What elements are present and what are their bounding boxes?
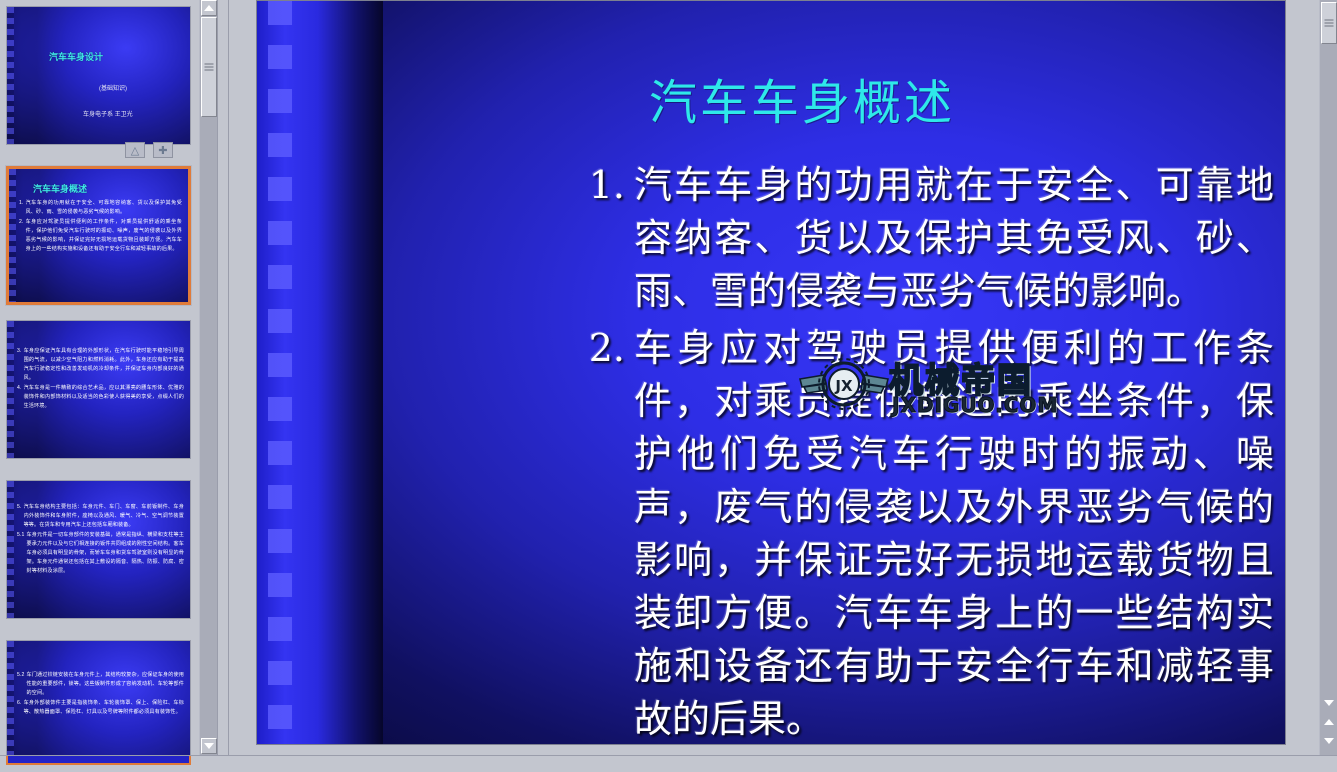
double-chevron-down-icon <box>1324 738 1334 744</box>
bullet-number: 5. <box>17 503 22 530</box>
slide-bullet-1: 1. 汽车车身的功用就在于安全、可靠地容纳客、货以及保护其免受风、砂、雨、雪的侵… <box>584 159 1274 318</box>
thumbnail-background-3: 3. 车身应保证汽车具有合理的外部形状，在汽车行驶时能平稳地引导周围的气流，以减… <box>7 321 190 458</box>
chevron-down-icon <box>204 743 214 749</box>
thumbnail-filmstrip-5 <box>7 641 14 755</box>
thumbnail-gradient-1 <box>7 7 190 144</box>
slide-bullet-2: 2. 车身应对驾驶员提供便利的工作条件，对乘员提供舒适的乘坐条件，保护他们免受汽… <box>584 322 1274 744</box>
thumbnail-filmstrip-1 <box>7 7 14 144</box>
scroll-up-button[interactable] <box>201 0 217 16</box>
powerpoint-window: 汽车车身设计 (基础知识) 车身电子系 王卫光 △ ✚ 汽车车身概述 1. 汽车… <box>0 0 1337 772</box>
bullet-text: 汽车车身是一件精致的综合艺术品，应以其漂亮的腰车形体、优雅的装饰件和内部饰材料以… <box>24 384 184 411</box>
grip-icon <box>205 64 214 71</box>
status-bar <box>0 755 1337 772</box>
animation-icon[interactable]: ✚ <box>153 142 173 158</box>
scroll-down-button[interactable] <box>201 738 217 754</box>
bullet-text: 汽车车身的功用就在于安全、可靠地容纳客、货以及保护其免受风、砂、雨、雪的侵袭与恶… <box>26 199 182 217</box>
thumbnail-body-3: 3. 车身应保证汽车具有合理的外部形状，在汽车行驶时能平稳地引导周围的气流，以减… <box>17 347 184 412</box>
selected-thumbnail-overflow-edge <box>6 755 191 765</box>
bullet-number: 4. <box>17 384 22 411</box>
bullet-number: 2. <box>584 322 634 375</box>
slide-thumbnail-3[interactable]: 3. 车身应保证汽车具有合理的外部形状，在汽车行驶时能平稳地引导周围的气流，以减… <box>6 320 191 459</box>
thumbnail-bullet: 2. 车身应对驾驶员提供便利的工作条件，对乘员提供舒适的乘坐条件，保护他们免受汽… <box>19 218 182 254</box>
chevron-up-icon <box>204 5 214 11</box>
transition-icon[interactable]: △ <box>125 142 145 158</box>
grip-icon <box>1325 20 1334 27</box>
bullet-number: 6. <box>17 699 22 717</box>
next-slide-button[interactable] <box>1321 733 1337 749</box>
slide-thumbnail-pane[interactable]: 汽车车身设计 (基础知识) 车身电子系 王卫光 △ ✚ 汽车车身概述 1. 汽车… <box>0 0 200 755</box>
bullet-text: 车门通过铰链安装在车身元件上，其结构较复杂，应保证车身的使用性能的重要部件，锁等… <box>27 671 184 698</box>
thumbnail-byline-1: 车身电子系 王卫光 <box>83 109 133 118</box>
bullet-text: 车身外部装饰件主要是指装饰条、车轮装饰罩、保上、保险杠、车标等、散热器面罩、保险… <box>24 699 184 717</box>
slide-canvas[interactable]: 汽车车身概述 1. 汽车车身的功用就在于安全、可靠地容纳客、货以及保护其免受风、… <box>257 1 1285 744</box>
previous-slide-button[interactable] <box>1321 714 1337 730</box>
slide-filmstrip-decoration <box>268 1 292 744</box>
slide-frame[interactable]: 汽车车身概述 1. 汽车车身的功用就在于安全、可靠地容纳客、货以及保护其免受风、… <box>256 0 1286 745</box>
slide-body-placeholder[interactable]: 1. 汽车车身的功用就在于安全、可靠地容纳客、货以及保护其免受风、砂、雨、雪的侵… <box>584 159 1274 744</box>
slide-thumbnail-2[interactable]: 汽车车身概述 1. 汽车车身的功用就在于安全、可靠地容纳客、货以及保护其免受风、… <box>6 166 191 305</box>
bullet-number: 1. <box>19 199 24 217</box>
bullet-text: 车身应对驾驶员提供便利的工作条件，对乘员提供舒适的乘坐条件，保护他们免受汽车行驶… <box>26 218 182 254</box>
scroll-thumb[interactable] <box>1321 2 1337 44</box>
thumbnail-subtitle-1: (基础知识) <box>99 83 127 92</box>
thumbnail-background-2: 汽车车身概述 1. 汽车车身的功用就在于安全、可靠地容纳客、货以及保护其免受风、… <box>9 169 188 302</box>
thumbnail-body-4: 5. 汽车车身结构主要包括：车身元件、车门、车窗、车前钣制件、车身内外装饰件和车… <box>17 503 184 577</box>
scroll-thumb[interactable] <box>201 17 217 117</box>
thumbnail-body-5: 5.2 车门通过铰链安装在车身元件上，其结构较复杂，应保证车身的使用性能的重要部… <box>17 671 184 718</box>
pane-splitter[interactable] <box>217 0 229 755</box>
thumbnail-bullet: 4. 汽车车身是一件精致的综合艺术品，应以其漂亮的腰车形体、优雅的装饰件和内部饰… <box>17 384 184 411</box>
slide-thumbnail-1[interactable]: 汽车车身设计 (基础知识) 车身电子系 王卫光 <box>6 6 191 145</box>
thumbnail-filmstrip-3 <box>7 321 14 458</box>
thumbnail-bullet: 6. 车身外部装饰件主要是指装饰条、车轮装饰罩、保上、保险杠、车标等、散热器面罩… <box>17 699 184 717</box>
bullet-text: 汽车车身结构主要包括：车身元件、车门、车窗、车前钣制件、车身内外装饰件和车身附件… <box>24 503 184 530</box>
scroll-down-button[interactable] <box>1321 695 1337 711</box>
bullet-text: 车身应对驾驶员提供便利的工作条件，对乘员提供舒适的乘坐条件，保护他们免受汽车行驶… <box>634 322 1274 744</box>
slide-title[interactable]: 汽车车身概述 <box>649 63 955 133</box>
bullet-text: 汽车车身的功用就在于安全、可靠地容纳客、货以及保护其免受风、砂、雨、雪的侵袭与恶… <box>634 159 1274 318</box>
thumbnail-filmstrip-2 <box>9 169 16 302</box>
thumbnail-bullet: 5.1 车身元件是一切车身部件的安装基础，通常是指纵、横梁和支柱等主要承力元件以… <box>17 531 184 576</box>
thumbnail-background-1: 汽车车身设计 (基础知识) 车身电子系 王卫光 <box>7 7 190 144</box>
thumbnail-title-2: 汽车车身概述 <box>33 182 87 195</box>
thumbnail-title-1: 汽车车身设计 <box>49 50 103 63</box>
thumbnail-body-2: 1. 汽车车身的功用就在于安全、可靠地容纳客、货以及保护其免受风、砂、雨、雪的侵… <box>19 199 182 255</box>
bullet-number: 5.1 <box>17 531 25 576</box>
bullet-text: 车身元件是一切车身部件的安装基础，通常是指纵、横梁和支柱等主要承力元件以及与它们… <box>27 531 184 576</box>
bullet-number: 1. <box>584 159 634 212</box>
bullet-number: 3. <box>17 347 22 383</box>
bullet-number: 5.2 <box>17 671 25 698</box>
slide-editing-pane[interactable]: 汽车车身概述 1. 汽车车身的功用就在于安全、可靠地容纳客、货以及保护其免受风、… <box>229 0 1319 755</box>
bullet-text: 车身应保证汽车具有合理的外部形状，在汽车行驶时能平稳地引导周围的气流，以减少空气… <box>24 347 184 383</box>
double-chevron-up-icon <box>1324 719 1334 725</box>
thumbnail-background-5: 5.2 车门通过铰链安装在车身元件上，其结构较复杂，应保证车身的使用性能的重要部… <box>7 641 190 755</box>
thumbnail-bullet: 1. 汽车车身的功用就在于安全、可靠地容纳客、货以及保护其免受风、砂、雨、雪的侵… <box>19 199 182 217</box>
slide-thumbnail-4[interactable]: 5. 汽车车身结构主要包括：车身元件、车门、车窗、车前钣制件、车身内外装饰件和车… <box>6 480 191 619</box>
slide-pane-scrollbar[interactable] <box>1319 0 1337 755</box>
slide-thumbnail-5[interactable]: 5.2 车门通过铰链安装在车身元件上，其结构较复杂，应保证车身的使用性能的重要部… <box>6 640 191 755</box>
thumbnail-filmstrip-4 <box>7 481 14 618</box>
thumbnail-bullet: 5.2 车门通过铰链安装在车身元件上，其结构较复杂，应保证车身的使用性能的重要部… <box>17 671 184 698</box>
bullet-number: 2. <box>19 218 24 254</box>
chevron-down-icon <box>1324 700 1334 706</box>
thumbnail-bullet: 3. 车身应保证汽车具有合理的外部形状，在汽车行驶时能平稳地引导周围的气流，以减… <box>17 347 184 383</box>
thumbnail-pane-scrollbar[interactable] <box>199 0 217 755</box>
thumbnail-background-4: 5. 汽车车身结构主要包括：车身元件、车门、车窗、车前钣制件、车身内外装饰件和车… <box>7 481 190 618</box>
thumbnail-bullet: 5. 汽车车身结构主要包括：车身元件、车门、车窗、车前钣制件、车身内外装饰件和车… <box>17 503 184 530</box>
